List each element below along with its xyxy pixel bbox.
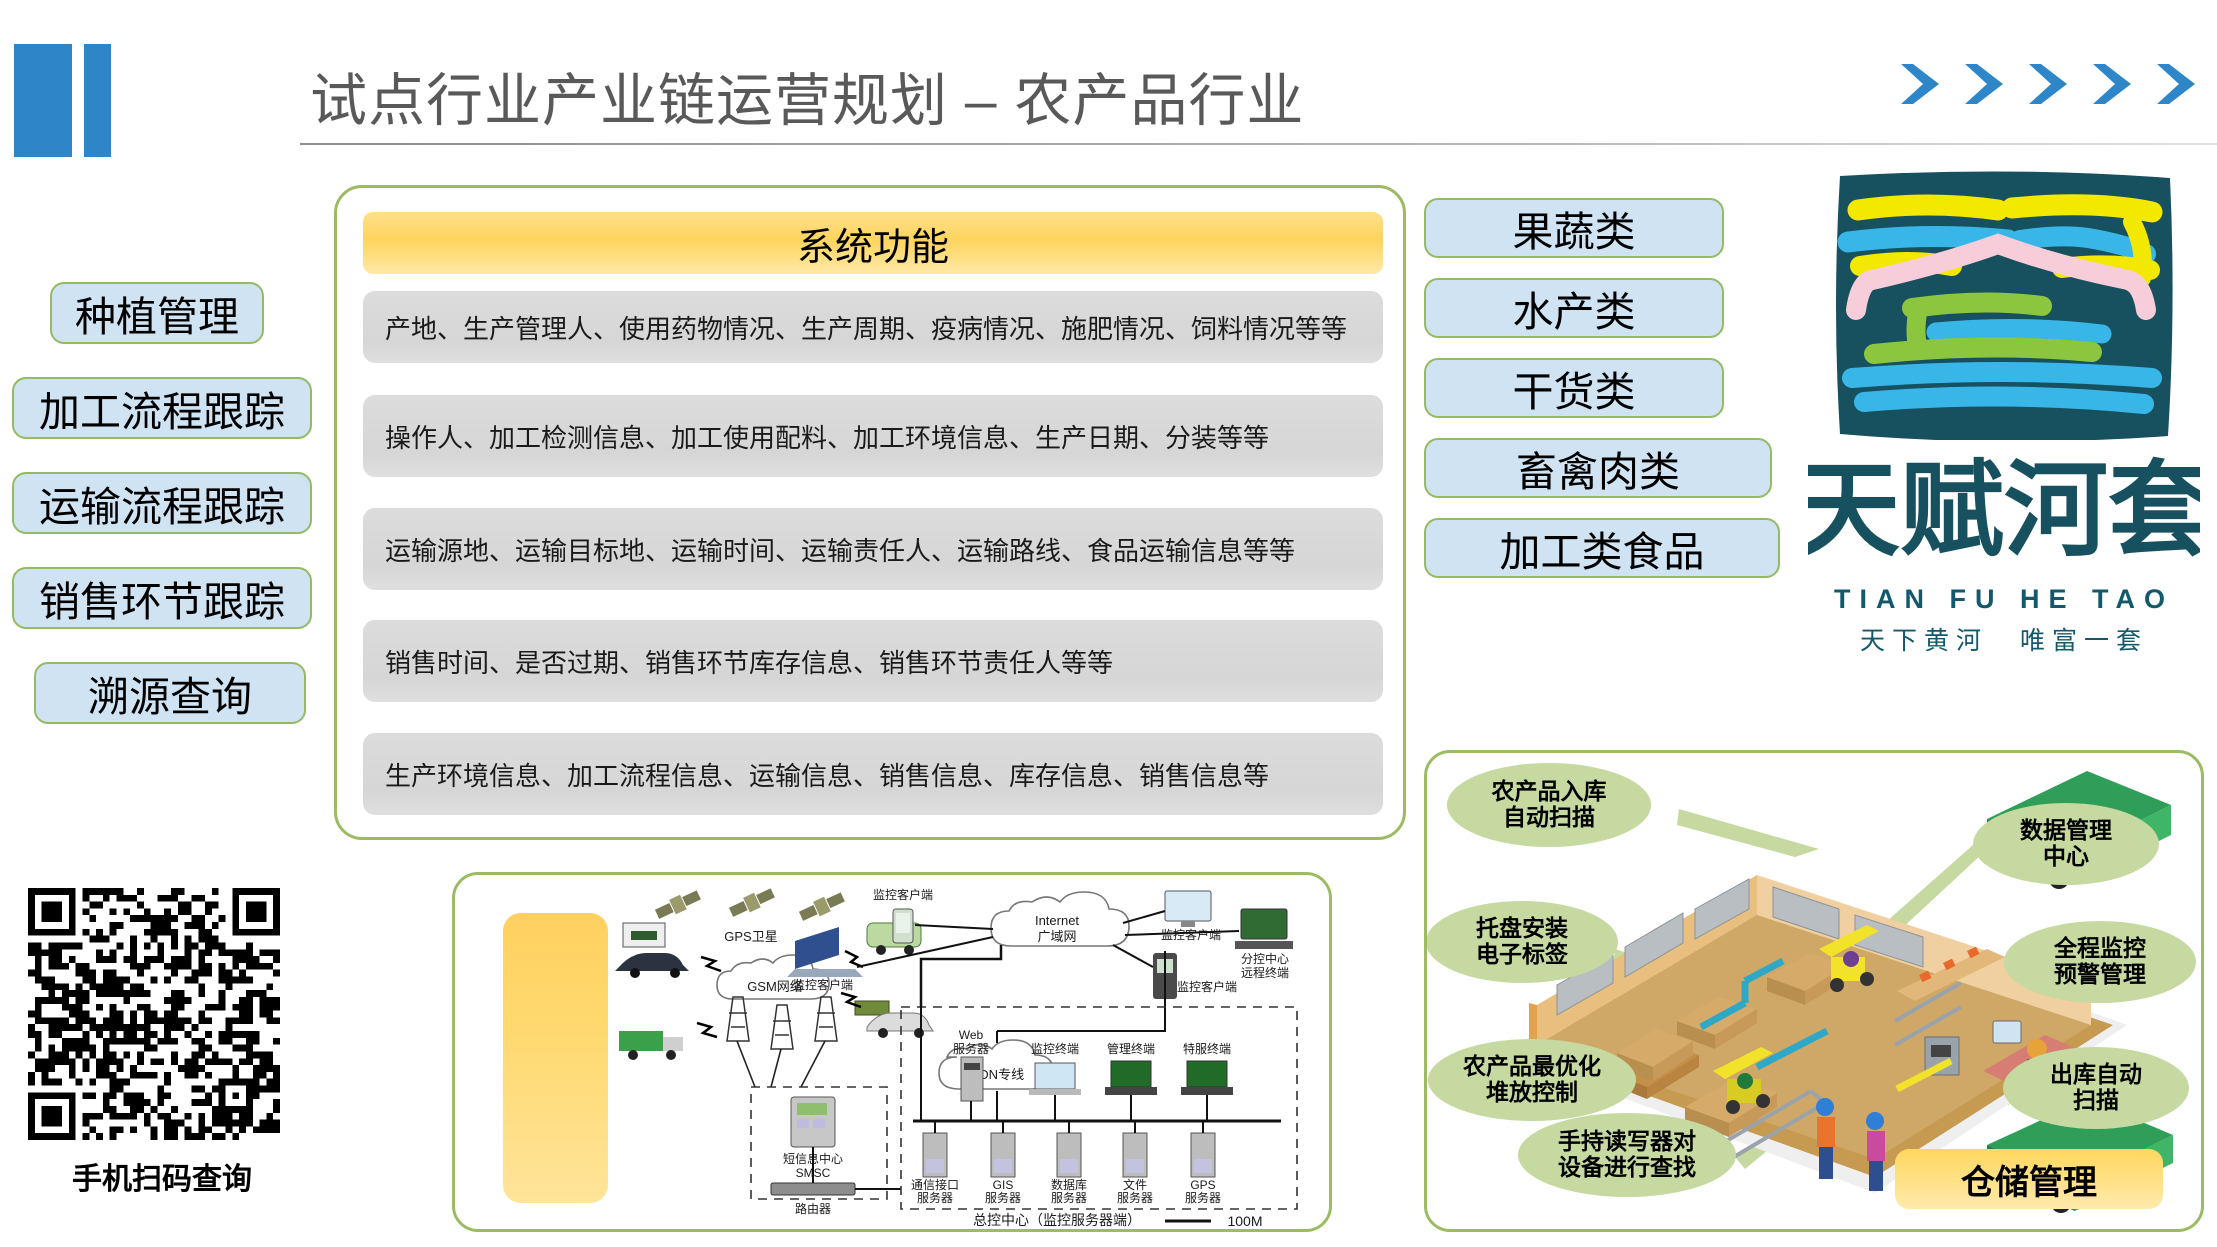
svg-text:Internet: Internet — [1035, 913, 1079, 928]
svg-text:特服终端: 特服终端 — [1183, 1041, 1231, 1056]
brand-logo: 天赋河套 TIAN FU HE TAO 天下黄河 唯富一套 — [1806, 168, 2202, 657]
callout-text: 农产品入库自动扫描 — [1492, 779, 1607, 831]
system-function-row[interactable]: 生产环境信息、加工流程信息、运输信息、销售信息、库存信息、销售信息等 — [363, 733, 1383, 815]
svg-text:服务器: 服务器 — [953, 1041, 989, 1056]
nav-item-planting-management[interactable]: 种植管理 — [50, 282, 264, 344]
category-livestock-meat[interactable]: 畜禽肉类 — [1424, 438, 1772, 498]
warehouse-management-badge[interactable]: 仓储管理 — [1895, 1149, 2163, 1209]
system-function-row[interactable]: 产地、生产管理人、使用药物情况、生产周期、疫病情况、施肥情况、饲料情况等等 — [363, 291, 1383, 363]
svg-text:服务器: 服务器 — [1051, 1190, 1087, 1205]
car-icon — [615, 953, 689, 978]
network-yellow-block — [503, 913, 608, 1203]
chevron-right-icon — [1963, 60, 2007, 108]
svg-text:天赋河套: 天赋河套 — [1808, 448, 2200, 571]
admin-terminal-icon — [1105, 1061, 1157, 1095]
svg-text:服务器: 服务器 — [985, 1190, 1021, 1205]
monitor-terminal-icon — [1029, 1063, 1081, 1095]
svg-text:GPS: GPS — [1190, 1178, 1215, 1192]
laptop-icon — [787, 927, 863, 977]
svg-text:广域网: 广域网 — [1037, 929, 1076, 944]
callout-optimal-stacking[interactable]: 农产品最优化堆放控制 — [1429, 1041, 1635, 1119]
category-aquatic[interactable]: 水产类 — [1424, 278, 1724, 338]
cell-tower-icon — [727, 997, 837, 1049]
svg-text:监控客户端: 监控客户端 — [873, 887, 933, 902]
category-list: 果蔬类 水产类 干货类 畜禽肉类 加工类食品 — [1424, 198, 1784, 598]
gps-satellite-icon — [654, 886, 846, 924]
svg-text:路由器: 路由器 — [795, 1201, 831, 1216]
svg-text:Web: Web — [959, 1028, 984, 1042]
qr-caption: 手机扫码查询 — [28, 1154, 296, 1198]
svg-text:服务器: 服务器 — [1185, 1190, 1221, 1205]
chevron-group — [1899, 60, 2199, 108]
system-function-row[interactable]: 销售时间、是否过期、销售环节库存信息、销售环节责任人等等 — [363, 620, 1383, 702]
slide-root: 试点行业产业链运营规划 – 农产品行业 种植管理 加工流程跟踪 运输流程跟踪 销… — [0, 0, 2217, 1247]
truck-icon — [619, 1031, 683, 1060]
svg-text:监控终端: 监控终端 — [1031, 1041, 1079, 1056]
svg-text:通信接口: 通信接口 — [911, 1177, 959, 1192]
qr-block: 手机扫码查询 — [28, 888, 296, 1198]
brand-name-en: TIAN FU HE TAO — [1806, 584, 2202, 615]
callout-outbound-auto-scan[interactable]: 出库自动扫描 — [2005, 1049, 2187, 1127]
nav-item-sales-tracking[interactable]: 销售环节跟踪 — [12, 567, 312, 629]
callout-text: 农产品最优化堆放控制 — [1463, 1054, 1601, 1106]
callout-text: 出库自动扫描 — [2050, 1062, 2142, 1114]
svg-text:服务器: 服务器 — [917, 1190, 953, 1205]
category-dry-goods[interactable]: 干货类 — [1424, 358, 1724, 418]
svg-text:数据库: 数据库 — [1051, 1177, 1087, 1192]
nav-item-transport-tracking[interactable]: 运输流程跟踪 — [12, 472, 312, 534]
category-processed-food[interactable]: 加工类食品 — [1424, 518, 1780, 578]
chevron-right-icon — [2027, 60, 2071, 108]
svg-text:总控中心（监控服务器端）: 总控中心（监控服务器端） — [973, 1212, 1141, 1228]
pda-icon — [893, 909, 913, 943]
svg-text:远程终端: 远程终端 — [1241, 965, 1289, 980]
callout-handheld-reader-lookup[interactable]: 手持读写器对设备进行查找 — [1519, 1115, 1735, 1195]
callout-text: 全程监控预警管理 — [2054, 936, 2146, 988]
monitor-icon — [1165, 891, 1211, 927]
system-functions-panel: 系统功能 产地、生产管理人、使用药物情况、生产周期、疫病情况、施肥情况、饲料情况… — [334, 185, 1406, 840]
internet-cloud: Internet 广域网 — [991, 892, 1129, 946]
desktop-terminal-icon — [1235, 909, 1293, 949]
left-nav: 种植管理 加工流程跟踪 运输流程跟踪 销售环节跟踪 溯源查询 — [12, 282, 324, 757]
system-function-row[interactable]: 操作人、加工检测信息、加工使用配料、加工环境信息、生产日期、分装等等 — [363, 395, 1383, 477]
callout-text: 数据管理中心 — [2020, 818, 2112, 870]
network-topology-svg: GPS卫星 GSM网络 — [605, 881, 1329, 1231]
svg-text:监控客户端: 监控客户端 — [1161, 927, 1221, 942]
svg-text:100M: 100M — [1227, 1213, 1262, 1229]
chevron-right-icon — [2091, 60, 2135, 108]
brand-slogan: 天下黄河 唯富一套 — [1806, 621, 2202, 657]
chevron-right-icon — [1899, 60, 1943, 108]
svg-text:GIS: GIS — [993, 1178, 1014, 1192]
category-fruits-vegetables[interactable]: 果蔬类 — [1424, 198, 1724, 258]
svg-text:文件: 文件 — [1123, 1177, 1147, 1192]
title-divider — [300, 143, 2217, 145]
callout-pallet-rfid-tag[interactable]: 托盘安装电子标签 — [1427, 903, 1617, 981]
svg-text:GPS卫星: GPS卫星 — [724, 929, 777, 944]
special-terminal-icon — [1181, 1061, 1233, 1095]
callout-full-monitoring-alert[interactable]: 全程监控预警管理 — [2005, 923, 2195, 1001]
brand-name-cn: 天赋河套 — [1808, 442, 2200, 582]
warehouse-panel: 农产品入库自动扫描 托盘安装电子标签 农产品最优化堆放控制 手持读写器对设备进行… — [1424, 750, 2204, 1232]
svg-text:监控客户端: 监控客户端 — [1177, 979, 1237, 994]
svg-text:管理终端: 管理终端 — [1107, 1041, 1155, 1056]
brand-mark-icon — [1834, 168, 2174, 440]
chevron-right-icon — [2155, 60, 2199, 108]
header-accent-bar-left — [14, 44, 72, 157]
router-icon — [771, 1183, 855, 1195]
web-server-icon — [961, 1057, 983, 1101]
svg-text:监控客户端: 监控客户端 — [793, 977, 853, 992]
van-icon — [867, 1013, 933, 1038]
system-functions-heading: 系统功能 — [363, 212, 1383, 274]
system-function-row[interactable]: 运输源地、运输目标地、运输时间、运输责任人、运输路线、食品运输信息等等 — [363, 508, 1383, 590]
nav-item-traceability-query[interactable]: 溯源查询 — [34, 662, 306, 724]
callout-text: 托盘安装电子标签 — [1476, 916, 1568, 968]
page-title: 试点行业产业链运营规划 – 农产品行业 — [310, 55, 1410, 135]
network-diagram-panel: 物流管理 GPS卫星 GSM网络 — [452, 872, 1332, 1232]
smsc-icon — [791, 1097, 835, 1147]
svg-text:分控中心: 分控中心 — [1241, 951, 1289, 966]
callout-data-management-center[interactable]: 数据管理中心 — [1975, 805, 2157, 883]
header-accent-bar-right — [84, 44, 111, 157]
nav-item-processing-tracking[interactable]: 加工流程跟踪 — [12, 377, 312, 439]
svg-text:服务器: 服务器 — [1117, 1190, 1153, 1205]
callout-inbound-auto-scan[interactable]: 农产品入库自动扫描 — [1449, 765, 1649, 845]
callout-text: 手持读写器对设备进行查找 — [1558, 1129, 1696, 1181]
qr-code-image[interactable] — [28, 888, 280, 1140]
